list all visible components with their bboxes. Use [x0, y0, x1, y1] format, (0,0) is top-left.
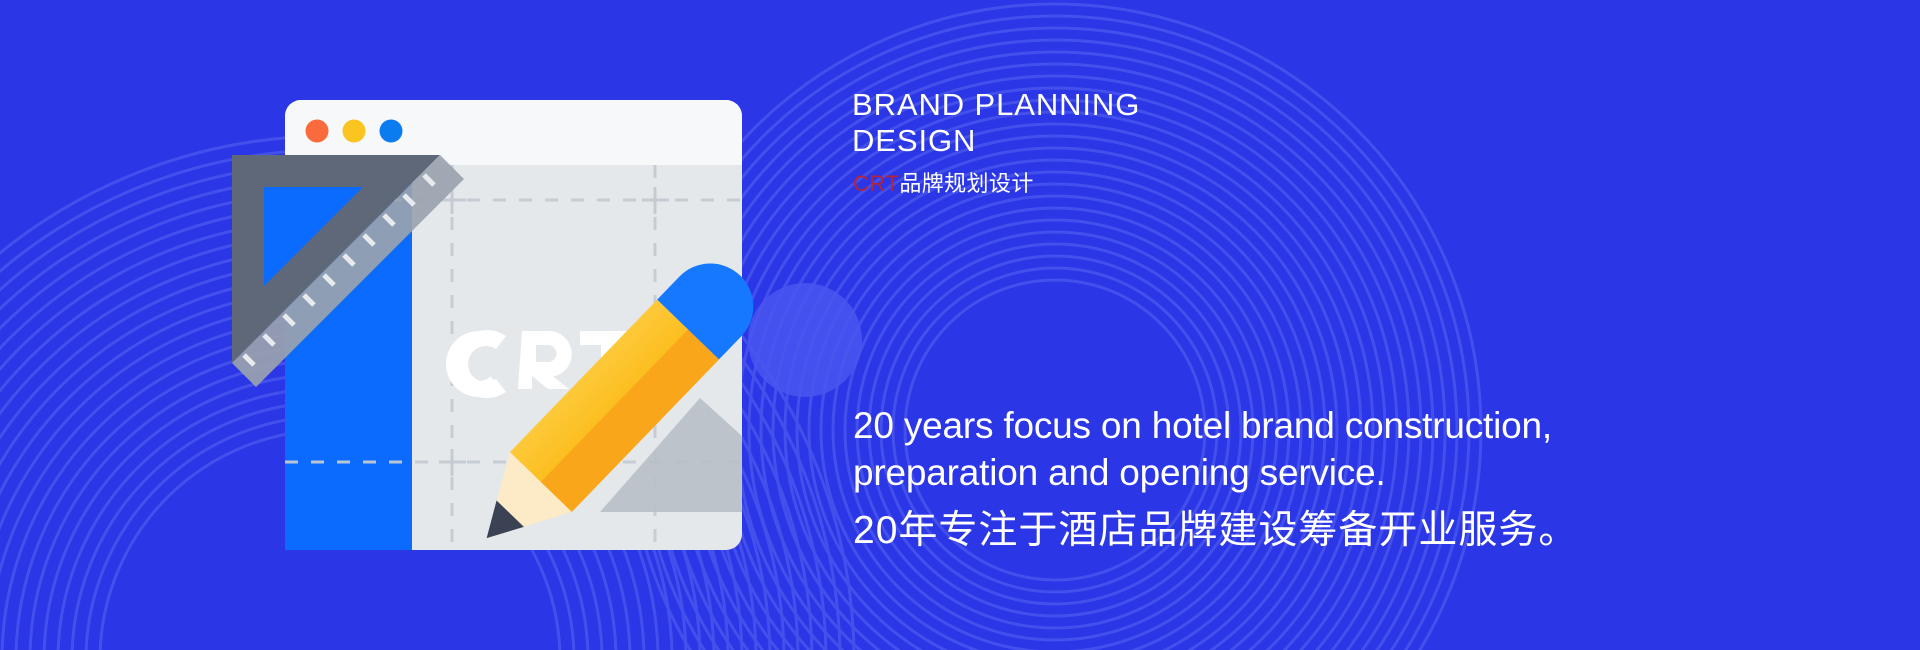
accent-circle	[748, 283, 862, 397]
maximize-dot	[380, 120, 403, 143]
eyebrow-subheading-cn: CRT品牌规划设计	[853, 170, 1034, 198]
tagline-chinese: 20年专注于酒店品牌建设筹备开业服务。	[853, 505, 1578, 557]
eyebrow-heading: BRAND PLANNING DESIGN	[852, 87, 1492, 159]
banner-copy: BRAND PLANNING DESIGN CRT品牌规划设计 20 years…	[852, 0, 1852, 650]
minimize-dot	[343, 120, 366, 143]
tagline-english: 20 years focus on hotel brand constructi…	[853, 402, 1733, 496]
close-dot	[306, 120, 329, 143]
brand-design-illustration	[0, 0, 900, 650]
brand-banner: BRAND PLANNING DESIGN CRT品牌规划设计 20 years…	[0, 0, 1920, 650]
eyebrow-subheading-cn-text: 品牌规划设计	[899, 171, 1033, 196]
brand-name-crt: CRT	[853, 171, 899, 196]
